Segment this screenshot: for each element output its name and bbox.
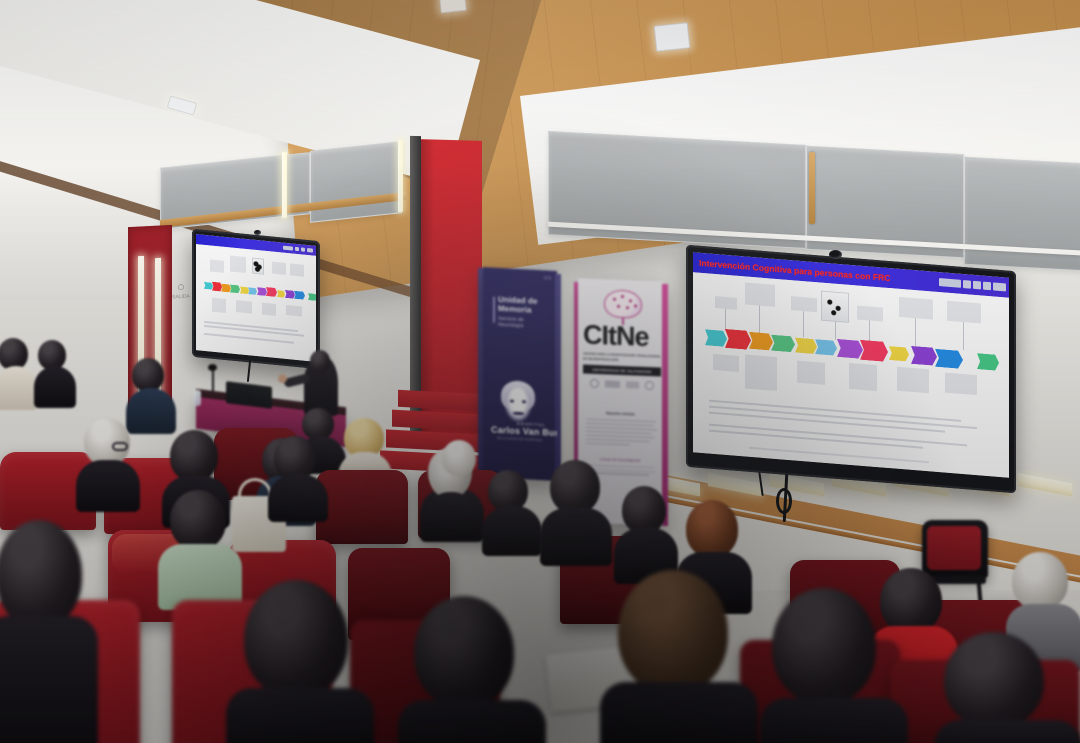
- audience-person: [76, 418, 142, 510]
- audience-person: [540, 460, 614, 564]
- slide-callout: [849, 363, 877, 391]
- slide-callout: [899, 297, 933, 320]
- slide-callout: [262, 303, 276, 316]
- citne-wordmark: CItNe: [583, 323, 649, 350]
- presenter-head: [310, 350, 330, 372]
- partner-logo: [626, 381, 639, 388]
- auditorium-photo: ○ SALIDA Intervención Cognitiva para: [0, 0, 1080, 743]
- chevron-step[interactable]: [977, 353, 999, 371]
- presenter-hand: [278, 374, 287, 383]
- slide-text-line: [709, 424, 967, 447]
- chevron-step[interactable]: [911, 346, 937, 366]
- toolbar-chip[interactable]: [295, 247, 299, 251]
- toolbar-chip[interactable]: [283, 246, 293, 251]
- partner-logos: [590, 378, 654, 390]
- chevron-step[interactable]: [795, 337, 817, 354]
- slide-callout: [745, 354, 777, 391]
- main-display[interactable]: Intervención Cognitiva para personas con…: [686, 256, 1016, 486]
- wall-light-strip: [1018, 473, 1072, 496]
- audience-person: [34, 340, 78, 406]
- banner-corner-mark: UV: [544, 275, 552, 281]
- citne-section-heading: Nuestra misión: [606, 411, 635, 417]
- slide-callout: [791, 296, 817, 312]
- chevron-step[interactable]: [935, 349, 963, 369]
- ceiling-downlight: [654, 22, 691, 51]
- slide-image: [252, 258, 264, 275]
- chevron-step[interactable]: [749, 332, 773, 351]
- chevron-step[interactable]: [771, 335, 795, 353]
- chevron-step[interactable]: [257, 287, 267, 296]
- webcam-icon: [829, 250, 842, 259]
- chevron-step[interactable]: [277, 290, 285, 298]
- banner-unidad-de-memoria: UV Unidad de Memoria Servicio de Neurolo…: [478, 268, 562, 484]
- slide-callout: [857, 305, 883, 321]
- audience-person: [438, 440, 484, 502]
- hospital-logo: HOSPITAL Carlos Van Buren DE LA CIUDAD D…: [491, 379, 553, 444]
- citne-institution-bar: UNIVERSIDAD DE VALPARAÍSO: [583, 365, 661, 377]
- partner-logo: [605, 380, 621, 388]
- toolbar-chip[interactable]: [983, 282, 991, 291]
- callout-connector: [725, 309, 726, 331]
- chevron-step[interactable]: [308, 293, 316, 301]
- chevron-step[interactable]: [860, 340, 888, 362]
- slide-text-line: [709, 400, 961, 422]
- slide-text-line: [204, 333, 294, 343]
- audience-person: [934, 632, 1080, 743]
- toolbar-chip[interactable]: [307, 248, 313, 253]
- slide-callout: [713, 354, 739, 372]
- chevron-step[interactable]: [221, 284, 231, 293]
- citne-paragraph: [586, 419, 658, 447]
- toolbar-chip[interactable]: [993, 282, 1006, 291]
- audience-person: [226, 580, 376, 743]
- toolbar-chip[interactable]: [963, 280, 971, 289]
- slide-callout: [286, 305, 302, 317]
- chevron-step[interactable]: [294, 291, 305, 300]
- slide-toolbar[interactable]: [939, 278, 1009, 292]
- chevron-step[interactable]: [705, 329, 727, 347]
- brain-icon: [604, 289, 642, 324]
- water-bottle: [194, 390, 201, 406]
- slide-callout: [272, 262, 286, 275]
- chevron-step[interactable]: [230, 284, 240, 293]
- chevron-step[interactable]: [889, 346, 909, 362]
- exit-sign: ○ SALIDA: [170, 279, 192, 306]
- main-display-screen[interactable]: Intervención Cognitiva para personas con…: [693, 252, 1009, 477]
- webcam-icon: [254, 230, 261, 235]
- slide-callout: [236, 300, 252, 314]
- slide-callout: [945, 373, 977, 396]
- callout-connector: [915, 318, 916, 346]
- slide-callout: [897, 367, 929, 394]
- callout-connector: [803, 311, 804, 337]
- slide-callout: [290, 263, 304, 276]
- chevron-step[interactable]: [204, 282, 213, 290]
- audience-person: [268, 436, 330, 520]
- callout-connector: [759, 306, 760, 334]
- audience-person: [614, 486, 680, 582]
- chevron-step[interactable]: [725, 329, 751, 350]
- slide-canvas: [196, 244, 316, 362]
- slide-image: [821, 291, 849, 323]
- slide-callout: [745, 282, 775, 306]
- audience-person: [398, 596, 548, 743]
- slide-callout: [212, 298, 226, 313]
- chevron-step[interactable]: [837, 339, 863, 359]
- toolbar-chip[interactable]: [301, 247, 305, 251]
- audience-person: [0, 520, 100, 743]
- chevron-step[interactable]: [285, 290, 295, 299]
- chevron-step[interactable]: [248, 287, 257, 295]
- slide-callout: [797, 361, 825, 385]
- slide-callout: [210, 259, 224, 272]
- glasses: [112, 442, 128, 451]
- slide-callout: [230, 255, 246, 273]
- toolbar-chip[interactable]: [939, 278, 961, 288]
- chevron-step[interactable]: [266, 287, 277, 297]
- room-interior: ○ SALIDA Intervención Cognitiva para: [0, 0, 1080, 743]
- callout-connector: [963, 322, 964, 350]
- partner-logo: [590, 378, 599, 387]
- callout-connector: [869, 320, 870, 342]
- partner-logo: [645, 380, 654, 389]
- citne-institution-label: UNIVERSIDAD DE VALPARAÍSO: [592, 367, 651, 373]
- toolbar-chip[interactable]: [973, 281, 981, 290]
- slide-callout: [947, 301, 981, 324]
- microphone-icon: [208, 364, 217, 371]
- chevron-step[interactable]: [212, 282, 222, 292]
- chevron-step[interactable]: [240, 286, 249, 294]
- banner-title-block: Unidad de Memoria Servicio de Neurología: [498, 296, 554, 332]
- slide-callout: [715, 296, 737, 310]
- audience-person: [482, 470, 544, 554]
- audience-person: [600, 570, 760, 743]
- window-blind-left[interactable]: [310, 141, 402, 223]
- display-cable-loop: [776, 488, 792, 514]
- audience-person: [760, 588, 910, 743]
- chevron-step[interactable]: [815, 339, 837, 356]
- window-light-slit: [398, 140, 403, 213]
- secondary-display-screen[interactable]: [196, 234, 316, 362]
- slide-canvas: [693, 272, 1009, 477]
- slide-toolbar[interactable]: [283, 246, 316, 253]
- window-light-slit: [282, 152, 287, 219]
- secondary-display[interactable]: [192, 232, 320, 368]
- banner-title-line2: Memoria: [498, 304, 554, 316]
- blind-cord[interactable]: [809, 152, 815, 224]
